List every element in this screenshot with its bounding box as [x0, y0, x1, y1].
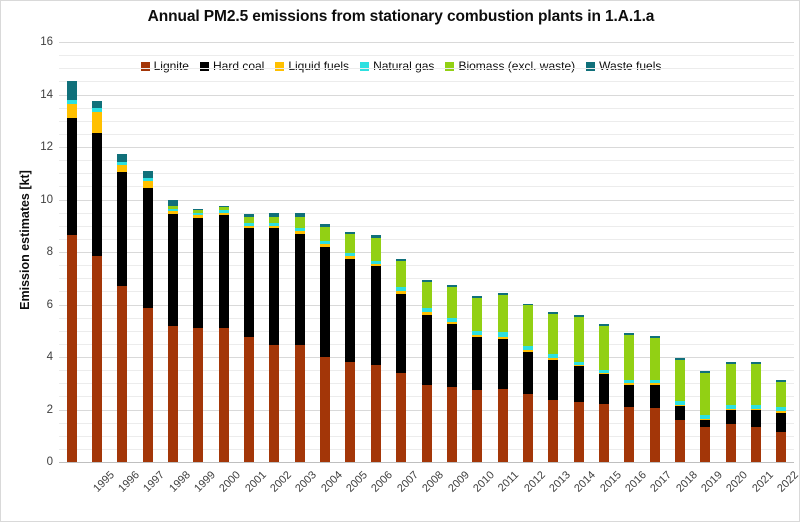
- bar-segment[interactable]: [371, 235, 381, 238]
- bar-segment[interactable]: [472, 331, 482, 335]
- bar-segment[interactable]: [168, 214, 178, 326]
- bar-segment[interactable]: [726, 424, 736, 462]
- bar-stack[interactable]: [472, 42, 482, 462]
- bar-segment[interactable]: [650, 383, 660, 384]
- bar-segment[interactable]: [751, 362, 761, 364]
- x-tick-label: 2002: [268, 469, 294, 495]
- bar-segment[interactable]: [650, 385, 660, 409]
- bar-segment[interactable]: [422, 312, 432, 315]
- bar-stack[interactable]: [447, 42, 457, 462]
- bar-segment[interactable]: [523, 346, 533, 350]
- bar-segment[interactable]: [700, 419, 710, 420]
- bar-segment[interactable]: [624, 333, 634, 335]
- bar-segment[interactable]: [650, 336, 660, 338]
- bar-stack[interactable]: [523, 42, 533, 462]
- x-tick-label: 2016: [623, 469, 649, 495]
- bar-segment[interactable]: [422, 385, 432, 462]
- x-tick-label: 2000: [218, 469, 244, 495]
- bar-segment[interactable]: [143, 181, 153, 188]
- bar-segment[interactable]: [700, 371, 710, 373]
- bar-segment[interactable]: [650, 408, 660, 462]
- bar-segment[interactable]: [700, 427, 710, 462]
- bar-segment[interactable]: [92, 133, 102, 256]
- bar-stack[interactable]: [396, 42, 406, 462]
- x-tick-label: 2020: [724, 469, 750, 495]
- bar-segment[interactable]: [548, 358, 558, 359]
- x-tick-label: 2019: [699, 469, 725, 495]
- bar-segment[interactable]: [574, 315, 584, 317]
- bar-segment[interactable]: [447, 285, 457, 286]
- bar-segment[interactable]: [269, 213, 279, 217]
- bar-segment[interactable]: [624, 335, 634, 380]
- bar-segment[interactable]: [143, 178, 153, 181]
- bar-segment[interactable]: [548, 312, 558, 314]
- bar-segment[interactable]: [422, 315, 432, 385]
- bar-segment[interactable]: [447, 287, 457, 319]
- bar-segment[interactable]: [548, 400, 558, 462]
- bar-segment[interactable]: [371, 266, 381, 364]
- x-tick-label: 1999: [192, 469, 218, 495]
- bar-segment[interactable]: [675, 420, 685, 462]
- plot-area: [59, 42, 794, 462]
- bar-segment[interactable]: [371, 261, 381, 264]
- bar-segment[interactable]: [92, 112, 102, 133]
- bar-segment[interactable]: [295, 217, 305, 229]
- x-tick-label: 2014: [572, 469, 598, 495]
- bar-segment[interactable]: [624, 385, 634, 407]
- x-tick-label: 2013: [547, 469, 573, 495]
- bar-segment[interactable]: [345, 256, 355, 259]
- bar-segment[interactable]: [143, 188, 153, 309]
- bar-segment[interactable]: [675, 405, 685, 406]
- bar-stack[interactable]: [624, 42, 634, 462]
- bar-stack[interactable]: [776, 42, 786, 462]
- bar-segment[interactable]: [320, 241, 330, 244]
- bar-segment[interactable]: [92, 108, 102, 112]
- bar-segment[interactable]: [574, 365, 584, 366]
- bar-segment[interactable]: [472, 296, 482, 298]
- bar-segment[interactable]: [447, 322, 457, 324]
- bar-stack[interactable]: [345, 42, 355, 462]
- y-tick-label: 10: [13, 194, 53, 206]
- bar-segment[interactable]: [168, 211, 178, 214]
- bar-stack[interactable]: [269, 42, 279, 462]
- x-tick-label: 2005: [344, 469, 370, 495]
- bar-segment[interactable]: [751, 405, 761, 409]
- bar-stack[interactable]: [92, 42, 102, 462]
- x-tick-label: 1995: [91, 469, 117, 495]
- bar-segment[interactable]: [776, 382, 786, 407]
- bar-segment[interactable]: [244, 217, 254, 224]
- bar-stack[interactable]: [726, 42, 736, 462]
- bar-segment[interactable]: [269, 228, 279, 345]
- x-axis-ticks: 1995199619971998199920002001200220032004…: [59, 463, 794, 522]
- bar-segment[interactable]: [168, 326, 178, 463]
- bar-segment[interactable]: [422, 280, 432, 282]
- bar-segment[interactable]: [599, 326, 609, 369]
- bar-segment[interactable]: [219, 215, 229, 328]
- bar-segment[interactable]: [244, 337, 254, 462]
- bar-segment[interactable]: [168, 209, 178, 212]
- chart-container: Annual PM2.5 emissions from stationary c…: [0, 0, 800, 522]
- bar-segment[interactable]: [675, 401, 685, 405]
- bar-segment[interactable]: [143, 308, 153, 462]
- bar-segment[interactable]: [244, 228, 254, 337]
- bar-segment[interactable]: [371, 238, 381, 260]
- bar-segment[interactable]: [447, 387, 457, 462]
- bar-segment[interactable]: [422, 282, 432, 308]
- bar-segment[interactable]: [67, 100, 77, 104]
- bar-segment[interactable]: [700, 373, 710, 415]
- bar-stack[interactable]: [675, 42, 685, 462]
- y-tick-label: 6: [13, 299, 53, 311]
- bar-segment[interactable]: [472, 298, 482, 331]
- bar-segment[interactable]: [193, 215, 203, 218]
- bar-stack[interactable]: [295, 42, 305, 462]
- bar-segment[interactable]: [523, 394, 533, 462]
- bar-segment[interactable]: [345, 259, 355, 363]
- bar-stack[interactable]: [751, 42, 761, 462]
- bar-segment[interactable]: [67, 81, 77, 99]
- bar-segment[interactable]: [472, 337, 482, 390]
- x-tick-label: 1998: [167, 469, 193, 495]
- bar-segment[interactable]: [472, 335, 482, 337]
- bar-stack[interactable]: [498, 42, 508, 462]
- bar-segment[interactable]: [498, 389, 508, 463]
- bar-segment[interactable]: [776, 407, 786, 411]
- bar-segment[interactable]: [67, 235, 77, 462]
- bar-segment[interactable]: [269, 223, 279, 226]
- bar-segment[interactable]: [574, 362, 584, 365]
- bar-segment[interactable]: [396, 261, 406, 287]
- bar-segment[interactable]: [624, 407, 634, 462]
- bar-segment[interactable]: [650, 380, 660, 383]
- bar-segment[interactable]: [396, 373, 406, 462]
- y-tick-label: 0: [13, 456, 53, 468]
- x-tick-label: 2012: [522, 469, 548, 495]
- bar-stack[interactable]: [244, 42, 254, 462]
- bar-segment[interactable]: [599, 373, 609, 374]
- bar-segment[interactable]: [67, 104, 77, 118]
- x-tick-label: 2015: [598, 469, 624, 495]
- x-tick-label: 2006: [370, 469, 396, 495]
- bar-segment[interactable]: [117, 154, 127, 162]
- bar-stack[interactable]: [700, 42, 710, 462]
- x-tick-label: 2018: [674, 469, 700, 495]
- bar-stack[interactable]: [599, 42, 609, 462]
- x-tick-label: 1996: [116, 469, 142, 495]
- bar-segment[interactable]: [320, 227, 330, 241]
- bar-segment[interactable]: [320, 357, 330, 462]
- bar-stack[interactable]: [168, 42, 178, 462]
- bar-segment[interactable]: [650, 338, 660, 380]
- bar-segment[interactable]: [523, 305, 533, 346]
- bar-segment[interactable]: [168, 200, 178, 207]
- bar-segment[interactable]: [599, 370, 609, 373]
- x-tick-label: 2011: [496, 469, 521, 494]
- bar-stack[interactable]: [422, 42, 432, 462]
- bar-segment[interactable]: [295, 213, 305, 217]
- bar-segment[interactable]: [219, 213, 229, 216]
- bar-segment[interactable]: [295, 231, 305, 234]
- bar-segment[interactable]: [751, 427, 761, 462]
- bar-segment[interactable]: [345, 253, 355, 256]
- bar-segment[interactable]: [726, 362, 736, 364]
- bar-segment[interactable]: [574, 402, 584, 462]
- bar-segment[interactable]: [320, 244, 330, 247]
- bar-segment[interactable]: [776, 411, 786, 414]
- chart-title: Annual PM2.5 emissions from stationary c…: [1, 8, 800, 26]
- bar-segment[interactable]: [193, 328, 203, 462]
- y-tick-label: 16: [13, 36, 53, 48]
- bar-segment[interactable]: [675, 360, 685, 401]
- y-tick-label: 2: [13, 404, 53, 416]
- bar-stack[interactable]: [548, 42, 558, 462]
- bar-segment[interactable]: [143, 171, 153, 178]
- bar-stack[interactable]: [219, 42, 229, 462]
- bar-segment[interactable]: [396, 259, 406, 262]
- bar-segment[interactable]: [168, 206, 178, 209]
- bar-segment[interactable]: [396, 287, 406, 291]
- bar-segment[interactable]: [776, 432, 786, 462]
- bar-segment[interactable]: [295, 234, 305, 346]
- y-axis-ticks: 0246810121416: [9, 42, 53, 462]
- x-tick-label: 2022: [775, 469, 800, 495]
- bar-segment[interactable]: [219, 210, 229, 213]
- bar-stack[interactable]: [371, 42, 381, 462]
- x-tick-label: 2008: [420, 469, 446, 495]
- bar-segment[interactable]: [599, 324, 609, 326]
- bar-segment[interactable]: [345, 232, 355, 235]
- bar-segment[interactable]: [498, 293, 508, 295]
- bar-segment[interactable]: [371, 264, 381, 267]
- bar-segment[interactable]: [244, 223, 254, 226]
- bar-segment[interactable]: [396, 294, 406, 373]
- bar-segment[interactable]: [574, 317, 584, 362]
- bar-segment[interactable]: [624, 380, 634, 383]
- bar-segment[interactable]: [675, 406, 685, 420]
- y-tick-label: 8: [13, 246, 53, 258]
- bar-segment[interactable]: [92, 256, 102, 462]
- x-tick-label: 2010: [471, 469, 497, 495]
- bar-segment[interactable]: [117, 172, 127, 286]
- x-tick-label: 2001: [243, 469, 269, 495]
- bar-segment[interactable]: [295, 345, 305, 462]
- bar-segment[interactable]: [244, 226, 254, 229]
- bar-segment[interactable]: [548, 354, 558, 358]
- bar-segment[interactable]: [193, 210, 203, 213]
- bar-segment[interactable]: [726, 364, 736, 405]
- y-tick-label: 4: [13, 351, 53, 363]
- bar-segment[interactable]: [295, 228, 305, 231]
- bar-stack[interactable]: [143, 42, 153, 462]
- bar-segment[interactable]: [472, 390, 482, 462]
- bar-segment[interactable]: [345, 234, 355, 252]
- x-tick-label: 2007: [395, 469, 421, 495]
- bar-segment[interactable]: [447, 318, 457, 322]
- bar-segment[interactable]: [92, 101, 102, 108]
- bar-segment[interactable]: [599, 374, 609, 404]
- bar-segment[interactable]: [574, 366, 584, 401]
- bar-stack[interactable]: [193, 42, 203, 462]
- bar-stack[interactable]: [320, 42, 330, 462]
- bar-segment[interactable]: [624, 383, 634, 384]
- bar-segment[interactable]: [117, 162, 127, 165]
- bar-segment[interactable]: [269, 217, 279, 224]
- bar-stack[interactable]: [117, 42, 127, 462]
- bar-segment[interactable]: [371, 365, 381, 462]
- bar-segment[interactable]: [776, 413, 786, 431]
- x-tick-label: 2017: [648, 469, 674, 495]
- bar-segment[interactable]: [320, 224, 330, 226]
- bar-segment[interactable]: [700, 415, 710, 419]
- bar-segment[interactable]: [700, 420, 710, 427]
- bar-segment[interactable]: [498, 295, 508, 332]
- bar-segment[interactable]: [523, 350, 533, 352]
- y-tick-label: 14: [13, 89, 53, 101]
- bar-segment[interactable]: [219, 206, 229, 207]
- bar-segment[interactable]: [548, 360, 558, 401]
- x-tick-label: 2003: [294, 469, 320, 495]
- bar-segment[interactable]: [726, 405, 736, 409]
- bar-stack[interactable]: [67, 42, 77, 462]
- bar-segment[interactable]: [751, 410, 761, 427]
- bar-segment[interactable]: [523, 304, 533, 305]
- bar-segment[interactable]: [193, 209, 203, 210]
- bar-segment[interactable]: [193, 213, 203, 216]
- bar-segment[interactable]: [776, 380, 786, 382]
- bar-segment[interactable]: [523, 352, 533, 394]
- bar-segment[interactable]: [422, 308, 432, 312]
- bar-segment[interactable]: [498, 337, 508, 339]
- bar-segment[interactable]: [548, 314, 558, 355]
- y-tick-label: 12: [13, 141, 53, 153]
- bar-segment[interactable]: [751, 409, 761, 410]
- bar-segment[interactable]: [599, 404, 609, 462]
- bar-segment[interactable]: [447, 324, 457, 387]
- bar-segment[interactable]: [726, 410, 736, 424]
- x-tick-label: 1997: [142, 469, 168, 495]
- x-tick-label: 2009: [446, 469, 472, 495]
- bar-segment[interactable]: [751, 364, 761, 405]
- bar-segment[interactable]: [498, 339, 508, 389]
- bar-segment[interactable]: [726, 409, 736, 410]
- bar-segment[interactable]: [269, 345, 279, 462]
- bar-stack[interactable]: [574, 42, 584, 462]
- x-tick-label: 2004: [319, 469, 345, 495]
- bar-segment[interactable]: [396, 291, 406, 294]
- bar-segment[interactable]: [219, 207, 229, 210]
- x-tick-label: 2021: [750, 469, 776, 495]
- bar-segment[interactable]: [269, 226, 279, 229]
- bar-segment[interactable]: [117, 286, 127, 462]
- bar-segment[interactable]: [345, 362, 355, 462]
- bar-segment[interactable]: [244, 214, 254, 217]
- bar-segment[interactable]: [193, 218, 203, 328]
- bar-segment[interactable]: [675, 358, 685, 360]
- bar-stack[interactable]: [650, 42, 660, 462]
- bar-segment[interactable]: [67, 118, 77, 235]
- bar-segment[interactable]: [498, 332, 508, 337]
- bar-segment[interactable]: [117, 165, 127, 172]
- bar-segment[interactable]: [219, 328, 229, 462]
- bar-segment[interactable]: [320, 247, 330, 357]
